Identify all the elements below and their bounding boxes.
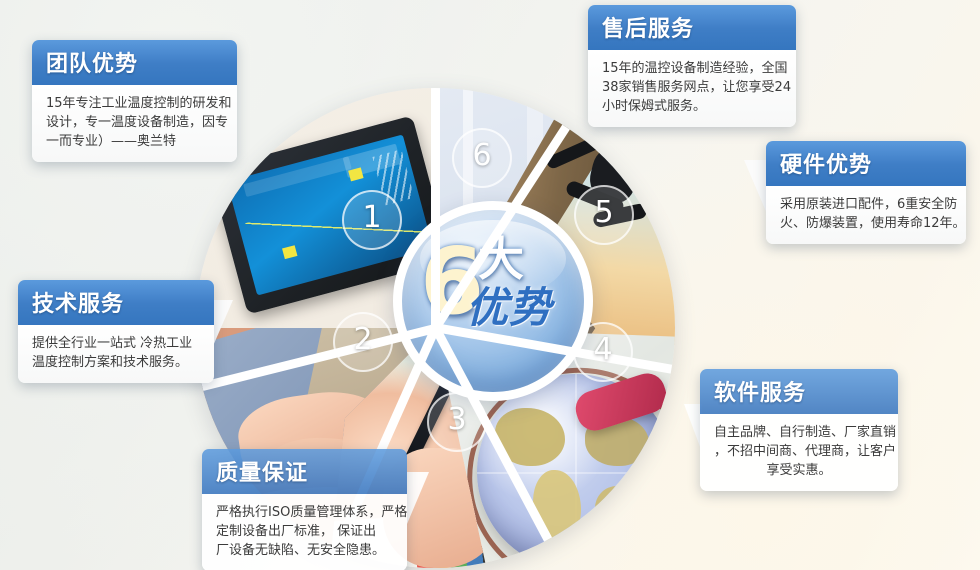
callout-technical-body: 提供全行业一站式 冷热工业 温度控制方案和技术服务。 xyxy=(18,325,214,383)
callout-quality-body: 严格执行ISO质量管理体系，严格 定制设备出厂标准， 保证出 厂设备无缺陷、无安… xyxy=(202,494,407,570)
callout-team[interactable]: 团队优势 15年专注工业温度控制的研发和 设计，专一温度设备制造，因专 一而专业… xyxy=(32,40,237,162)
callout-quality[interactable]: 质量保证 严格执行ISO质量管理体系，严格 定制设备出厂标准， 保证出 厂设备无… xyxy=(202,449,407,570)
callout-aftersales-body: 15年的温控设备制造经验，全国 38家销售服务网点，让您享受24 小时保姆式服务… xyxy=(588,50,796,127)
hub-word: 优势 xyxy=(466,286,552,330)
callout-hardware-tail xyxy=(744,160,768,216)
callout-hardware-body: 采用原装进口配件，6重安全防 火、防爆装置，使用寿命12年。 xyxy=(766,186,966,244)
callout-hardware[interactable]: 硬件优势 采用原装进口配件，6重安全防 火、防爆装置，使用寿命12年。 xyxy=(766,141,966,244)
callout-aftersales-title: 售后服务 xyxy=(588,5,796,50)
callout-technical-title: 技术服务 xyxy=(18,280,214,325)
callout-software-title: 软件服务 xyxy=(700,369,898,414)
callout-team-title: 团队优势 xyxy=(32,40,237,85)
callout-software-body: 自主品牌、自行制造、厂家直销 ，不招中间商、代理商，让客户 享受实惠。 xyxy=(700,414,898,491)
callout-hardware-title: 硬件优势 xyxy=(766,141,966,186)
callout-team-body: 15年专注工业温度控制的研发和 设计，专一温度设备制造，因专 一而专业）——奥兰… xyxy=(32,85,237,162)
callout-software[interactable]: 软件服务 自主品牌、自行制造、厂家直销 ，不招中间商、代理商，让客户 享受实惠。 xyxy=(700,369,898,491)
callout-quality-tail xyxy=(407,472,429,524)
segment-badge-4[interactable]: 4 xyxy=(573,322,633,382)
segment-badge-5[interactable]: 5 xyxy=(574,185,634,245)
segment-badge-1[interactable]: 1 xyxy=(342,190,402,250)
red-trend-arrow-icon xyxy=(257,88,427,154)
callout-technical-tail xyxy=(213,300,233,346)
callout-quality-title: 质量保证 xyxy=(202,449,407,494)
segment-badge-6[interactable]: 6 xyxy=(452,128,512,188)
callout-technical[interactable]: 技术服务 提供全行业一站式 冷热工业 温度控制方案和技术服务。 xyxy=(18,280,214,383)
callout-aftersales[interactable]: 售后服务 15年的温控设备制造经验，全国 38家销售服务网点，让您享受24 小时… xyxy=(588,5,796,127)
poster-canvas: 6 大 优势 1 2 3 4 5 6 团队优势 15年专注工业温度控制的研发和 … xyxy=(0,0,980,570)
segment-badge-2[interactable]: 2 xyxy=(333,312,393,372)
segment-badge-3[interactable]: 3 xyxy=(427,392,487,452)
